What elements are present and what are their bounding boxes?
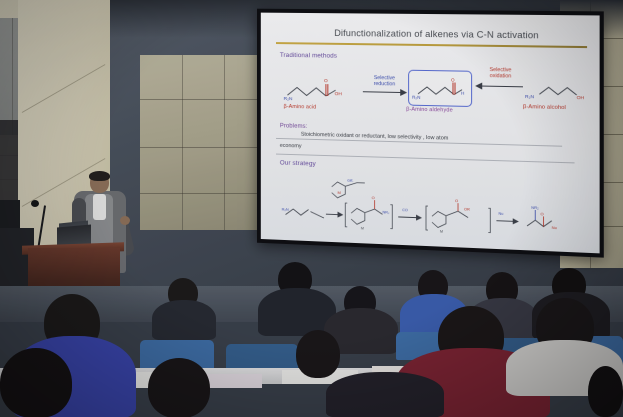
audience-head-front-center [296,330,340,378]
pillar-text-upper [41,92,46,98]
projection-screen: Difunctionalization of alkenes via C-N a… [261,13,600,254]
svg-text:O: O [455,198,458,203]
mechanism-scheme: cat. M R₂N O N [282,171,581,238]
label-beta-amino-acid: β-Amino acid [284,104,317,111]
svg-text:NR₂: NR₂ [382,210,389,214]
beta-amino-aldehyde-structure: R₂N O H [412,74,470,103]
title-underline [276,42,587,48]
svg-text:R₂N: R₂N [282,207,289,212]
problems-heading: Problems: [280,122,308,130]
acoustic-wall-panels [140,55,265,230]
audience-head-far-right-front [588,366,623,417]
arrow-label-selective-reduction: Selective reduction [365,75,404,88]
svg-text:O: O [372,195,375,200]
svg-text:M: M [440,230,443,234]
svg-text:Nu: Nu [498,212,503,216]
svg-text:CO: CO [402,208,408,212]
projection-screen-frame: Difunctionalization of alkenes via C-N a… [257,9,604,258]
svg-text:R₂N: R₂N [284,96,293,102]
svg-text:O: O [540,211,543,216]
audience-head-front-mid [148,358,210,417]
lecture-hall-photo: Difunctionalization of alkenes via C-N a… [0,0,623,417]
beta-amino-alcohol-structure: R₂N OH [525,76,589,104]
pillar-text-lower [41,186,46,192]
audience-head-front-left [0,348,72,417]
presenter-hair [89,171,110,181]
svg-text:R₂N: R₂N [412,95,420,100]
svg-text:OR: OR [464,207,470,211]
label-beta-amino-alcohol: β-Amino alcohol [523,104,566,111]
slide-title: Difunctionalization of alkenes via C-N a… [303,27,573,41]
audience-shoulders-back-1 [152,300,216,340]
presenter-hand [120,216,130,225]
beta-amino-acid-structure: R₂N O OH [284,74,359,105]
arrow-label-selective-oxidation: Selective oxidation [478,67,523,80]
svg-text:Nu: Nu [552,226,557,230]
paper-2 [206,374,262,388]
svg-text:cat.: cat. [347,177,353,182]
arrow-right-1-icon [363,87,408,98]
arrow-left-1-icon [474,81,523,92]
svg-text:NR₂: NR₂ [531,205,539,210]
audience-shoulders-front-center [326,372,444,417]
svg-text:M: M [338,190,341,195]
svg-text:H: H [461,91,464,96]
svg-text:M: M [361,226,364,230]
sel-ox-l2: oxidation [490,73,512,79]
svg-text:R₂N: R₂N [525,94,535,100]
presenter-shirt [93,194,106,220]
svg-text:OH: OH [577,95,585,101]
svg-text:OH: OH [335,91,343,97]
presentation-slide: Difunctionalization of alkenes via C-N a… [261,13,600,254]
microphone-head-icon [31,200,39,207]
problems-line-2: economy [280,142,302,150]
section-traditional-methods: Traditional methods [280,52,337,60]
svg-text:O: O [451,77,455,82]
svg-text:O: O [324,78,328,84]
section-our-strategy: Our strategy [280,160,316,168]
label-beta-amino-aldehyde: β-Amino aldehyde [406,107,453,114]
separator-rule-2 [276,154,575,164]
